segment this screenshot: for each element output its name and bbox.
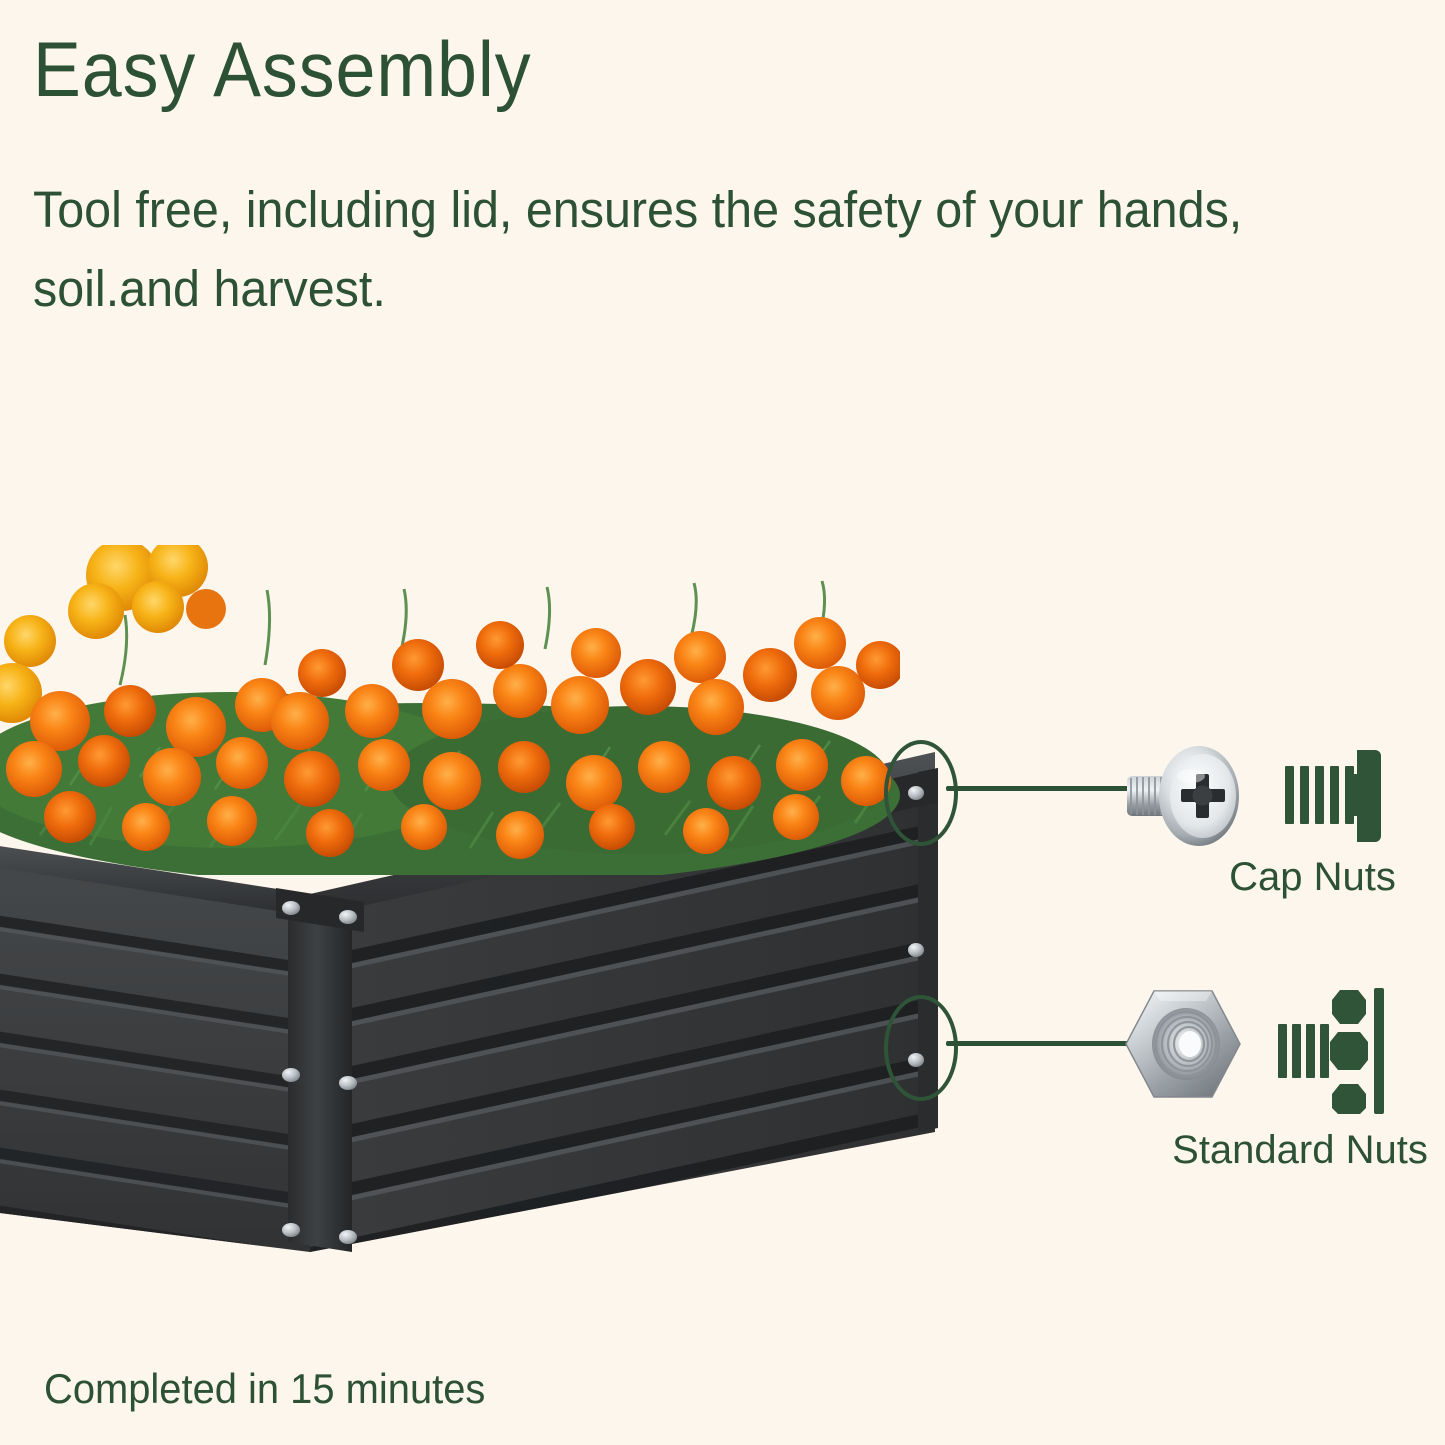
standard-nut-diagram-icon bbox=[1278, 988, 1386, 1114]
page-title: Easy Assembly bbox=[33, 30, 532, 108]
leader-line-cap-nuts bbox=[946, 786, 1141, 791]
callout-ring-standard-nuts bbox=[884, 995, 958, 1101]
callout-ring-cap-nuts bbox=[884, 740, 958, 846]
cap-nut-photo bbox=[1125, 742, 1243, 850]
callout-label-cap-nuts: Cap Nuts bbox=[1185, 855, 1440, 900]
subheadline: Tool free, including lid, ensures the sa… bbox=[33, 170, 1259, 328]
flower-bed-svg bbox=[0, 545, 900, 875]
cap-nut-diagram-icon bbox=[1283, 748, 1383, 844]
hex-nut-photo bbox=[1120, 985, 1244, 1103]
callout-label-standard-nuts: Standard Nuts bbox=[1160, 1128, 1440, 1173]
marketing-image-canvas: Easy Assembly Tool free, including lid, … bbox=[0, 0, 1445, 1445]
marigold-plants bbox=[0, 545, 900, 875]
completion-time-note: Completed in 15 minutes bbox=[44, 1368, 485, 1410]
leader-line-standard-nuts bbox=[946, 1041, 1141, 1046]
